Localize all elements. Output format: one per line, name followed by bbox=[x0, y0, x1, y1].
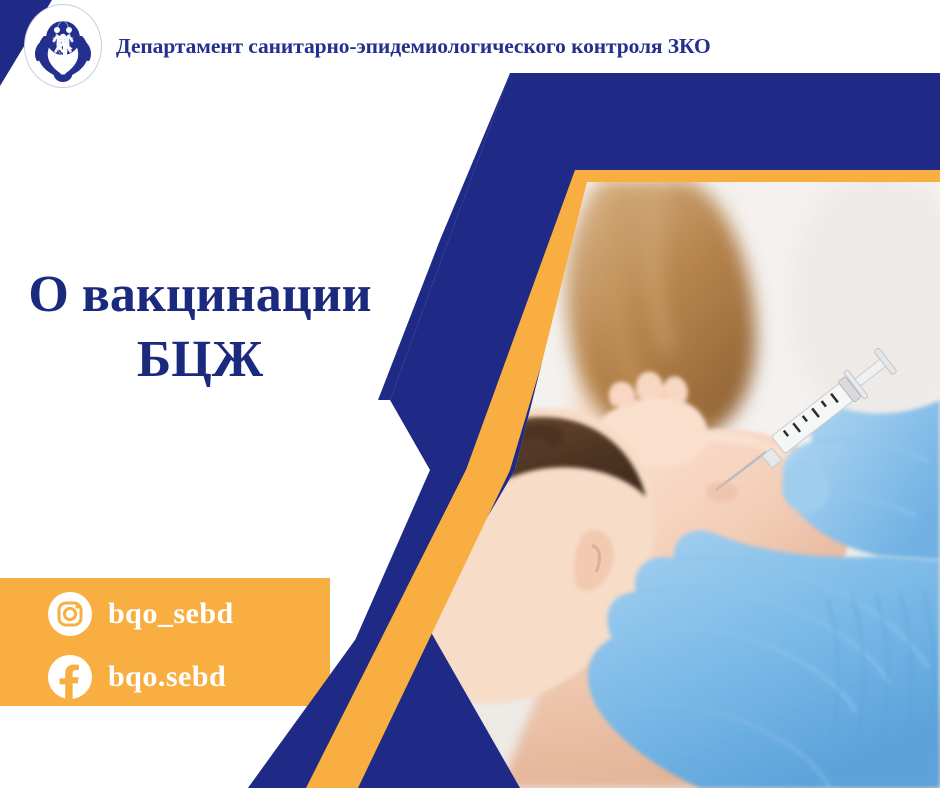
org-title: Департамент санитарно-эпидемиологическог… bbox=[116, 34, 711, 59]
poster-canvas: Департамент санитарно-эпидемиологическог… bbox=[0, 0, 940, 788]
page-title-line2: БЦЖ bbox=[0, 327, 400, 392]
facebook-icon bbox=[48, 655, 92, 699]
facebook-handle: bqo.sebd bbox=[108, 660, 226, 694]
social-row-instagram[interactable]: bqo_sebd bbox=[48, 592, 234, 636]
header: Департамент санитарно-эпидемиологическог… bbox=[0, 0, 940, 92]
social-row-facebook[interactable]: bqo.sebd bbox=[48, 655, 226, 699]
page-title-line1: О вакцинации bbox=[0, 262, 400, 327]
hands-holding-people-globe-icon bbox=[24, 4, 102, 88]
instagram-icon bbox=[48, 592, 92, 636]
instagram-handle: bqo_sebd bbox=[108, 597, 234, 631]
page-title: О вакцинации БЦЖ bbox=[0, 262, 400, 392]
logo-wrap bbox=[24, 4, 102, 88]
